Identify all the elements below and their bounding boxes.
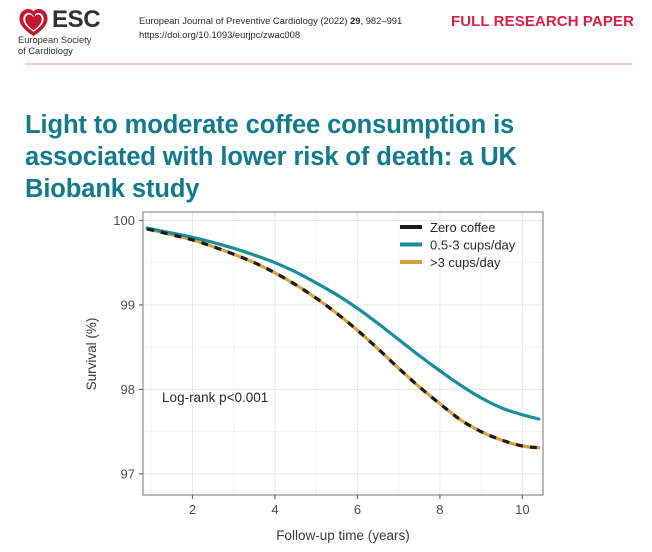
y-tick-label: 100	[113, 213, 135, 228]
x-tick-label: 6	[354, 502, 361, 517]
header-divider	[25, 63, 632, 65]
journal-masthead: ESC European Society of Cardiology Europ…	[0, 0, 652, 64]
esc-acronym: ESC	[52, 7, 100, 33]
legend-label-0: Zero coffee	[430, 220, 496, 235]
y-axis-title: Survival (%)	[84, 318, 99, 391]
esc-heart-icon	[18, 7, 49, 38]
journal-citation-suffix: , 982–991	[361, 15, 403, 26]
kaplan-meier-plot: 979899100246810 Zero coffee0.5-3 cups/da…	[0, 200, 652, 552]
y-tick-label: 98	[121, 382, 135, 397]
x-tick-label: 4	[271, 502, 278, 517]
annotation-logrank-p: Log-rank p<0.001	[162, 390, 268, 405]
page-title: Light to moderate coffee consumption is …	[25, 109, 565, 205]
y-tick-label: 99	[121, 297, 135, 312]
x-tick-label: 8	[436, 502, 443, 517]
esc-society-line-1: European Society	[18, 35, 91, 46]
journal-citation-prefix: European Journal of Preventive Cardiolog…	[139, 15, 350, 26]
x-tick-label: 10	[515, 502, 529, 517]
plot-annotations: Log-rank p<0.001	[162, 390, 268, 405]
legend-label-2: >3 cups/day	[430, 255, 501, 270]
x-tick-label: 2	[189, 502, 196, 517]
y-tick-label: 97	[121, 466, 135, 481]
article-type-badge: FULL RESEARCH PAPER	[451, 13, 634, 30]
survival-curve-figure: 979899100246810 Zero coffee0.5-3 cups/da…	[0, 200, 652, 552]
esc-logo: ESC European Society of Cardiology	[16, 6, 128, 58]
x-axis-title: Follow-up time (years)	[276, 528, 410, 543]
journal-doi-link[interactable]: https://doi.org/10.1093/eurjpc/zwac008	[139, 28, 429, 42]
journal-citation-volume: 29	[350, 15, 360, 26]
journal-citation: European Journal of Preventive Cardiolog…	[139, 14, 429, 28]
journal-citation-block: European Journal of Preventive Cardiolog…	[139, 14, 429, 42]
legend-label-1: 0.5-3 cups/day	[430, 238, 516, 253]
esc-society-line-2: of Cardiology	[18, 46, 73, 57]
